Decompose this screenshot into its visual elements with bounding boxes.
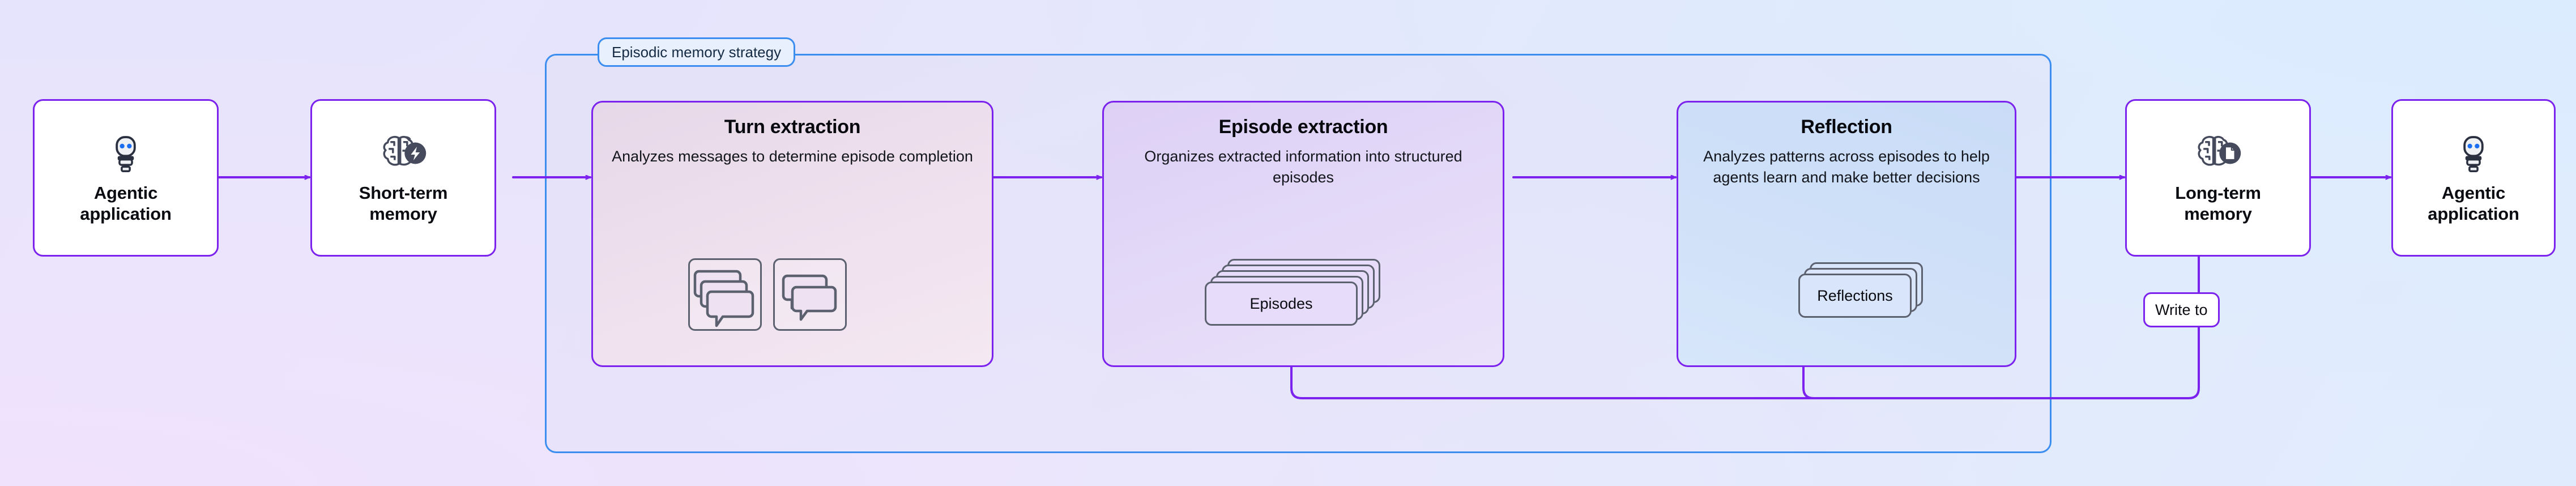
node-agentic-application-left[interactable]: Agenticapplication bbox=[33, 99, 219, 257]
stage-card-reflection[interactable]: Reflection Analyzes patterns across epis… bbox=[1677, 101, 2016, 367]
robot-icon bbox=[2452, 131, 2495, 174]
diagram-canvas: Episodic memory strategy bbox=[0, 0, 2576, 486]
stage-card-episode-extraction[interactable]: Episode extraction Organizes extracted i… bbox=[1102, 101, 1504, 367]
stage-description: Analyzes messages to determine episode c… bbox=[612, 146, 973, 167]
chat-bubbles-tile-multi bbox=[688, 258, 762, 331]
write-to-label: Write to bbox=[2155, 301, 2208, 319]
write-to-pill[interactable]: Write to bbox=[2143, 292, 2220, 327]
node-long-term-memory[interactable]: Long-termmemory bbox=[2125, 99, 2311, 257]
stage-title: Episode extraction bbox=[1219, 116, 1388, 138]
chat-bubbles-tile-pair bbox=[773, 258, 847, 331]
node-agentic-application-right[interactable]: Agenticapplication bbox=[2391, 99, 2556, 257]
node-label: Agenticapplication bbox=[2428, 183, 2519, 224]
stage-description: Organizes extracted information into str… bbox=[1120, 146, 1487, 189]
episodes-stack-front: Episodes bbox=[1205, 282, 1358, 326]
strategy-label-pill: Episodic memory strategy bbox=[598, 37, 795, 67]
node-label: Short-termmemory bbox=[359, 183, 447, 224]
strategy-label-text: Episodic memory strategy bbox=[612, 44, 781, 61]
reflections-stack-front: Reflections bbox=[1798, 274, 1912, 318]
stage-title: Turn extraction bbox=[724, 116, 860, 138]
episodes-label: Episodes bbox=[1249, 295, 1312, 313]
node-short-term-memory[interactable]: Short-termmemory bbox=[310, 99, 496, 257]
brain-document-icon bbox=[2195, 131, 2241, 174]
chat-bubbles-icon-three bbox=[690, 260, 760, 329]
node-label: Agenticapplication bbox=[80, 183, 171, 224]
stage-title: Reflection bbox=[1801, 116, 1892, 138]
reflections-label: Reflections bbox=[1817, 287, 1893, 305]
stage-card-turn-extraction[interactable]: Turn extraction Analyzes messages to det… bbox=[591, 101, 993, 367]
brain-bolt-icon bbox=[380, 131, 427, 174]
robot-icon bbox=[104, 131, 147, 174]
node-label: Long-termmemory bbox=[2175, 183, 2261, 224]
chat-bubbles-icon-two bbox=[775, 260, 845, 329]
stage-description: Analyzes patterns across episodes to hel… bbox=[1692, 146, 2001, 189]
